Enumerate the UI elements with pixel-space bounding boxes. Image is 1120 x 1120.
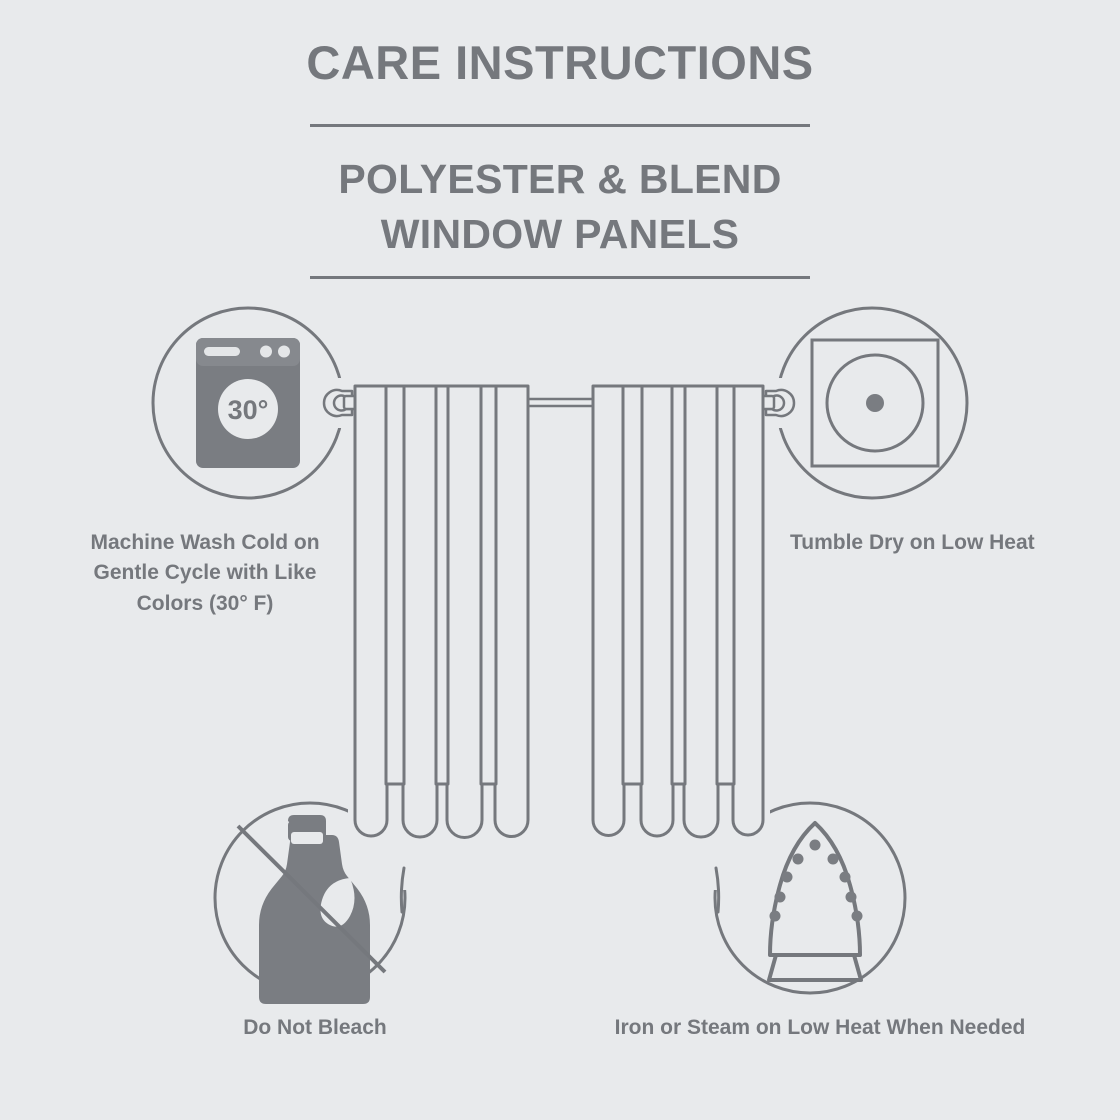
curtain-left-panel [355,386,528,838]
caption-do-not-bleach: Do Not Bleach [165,1013,465,1043]
caption-machine-wash: Machine Wash Cold on Gentle Cycle with L… [60,528,350,619]
tumble-dry-icon [812,340,938,466]
wash-temperature-badge: 30° [228,395,269,425]
curtain-right-panel [593,386,763,837]
no-bleach-icon [238,815,385,1004]
curtain-hem-lines [401,868,718,912]
left-finial [324,390,356,416]
caption-iron: Iron or Steam on Low Heat When Needed [610,1013,1030,1043]
iron-steam-holes [770,840,863,922]
curtain-window-panels [324,386,794,912]
washing-machine-icon: 30° [196,338,300,468]
caption-tumble-dry: Tumble Dry on Low Heat [790,528,1080,558]
curtain-rod [525,399,593,406]
iron-icon [769,823,863,980]
care-instructions-infographic: CARE INSTRUCTIONS POLYESTER & BLEND WIND… [0,0,1120,1120]
